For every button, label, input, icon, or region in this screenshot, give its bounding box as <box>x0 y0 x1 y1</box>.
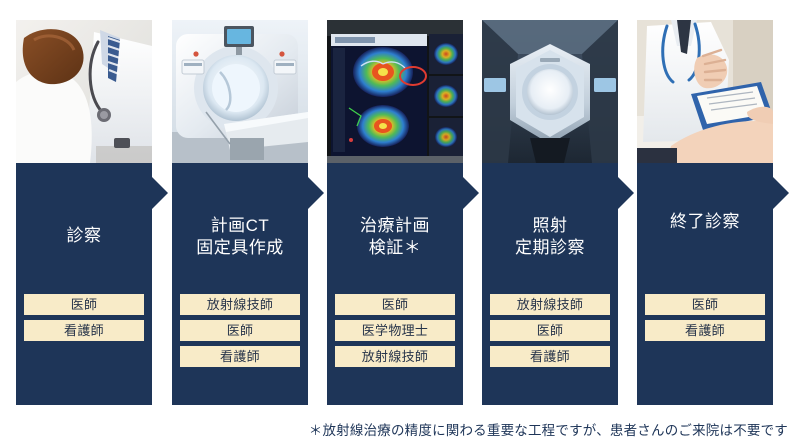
step-5-roles: 医師 看護師 <box>645 294 765 341</box>
role-badge: 医学物理士 <box>335 320 455 341</box>
step-3-title: 治療計画 検証＊ <box>327 215 463 260</box>
step-2-roles: 放射線技師 医師 看護師 <box>180 294 300 367</box>
flow-step-2: 計画CT 固定具作成 放射線技師 医師 看護師 <box>172 20 308 405</box>
step-4-roles: 放射線技師 医師 看護師 <box>490 294 610 367</box>
role-badge: 医師 <box>24 294 144 315</box>
role-badge: 放射線技師 <box>180 294 300 315</box>
role-badge: 放射線技師 <box>490 294 610 315</box>
step-3-photo <box>327 20 463 163</box>
role-badge: 医師 <box>180 320 300 341</box>
role-badge: 看護師 <box>24 320 144 341</box>
step-5-arrow-panel: 終了診察 医師 看護師 <box>637 163 789 405</box>
step-1-roles: 医師 看護師 <box>24 294 144 341</box>
step-4-arrow-panel: 照射 定期診察 放射線技師 医師 看護師 <box>482 163 634 405</box>
role-badge: 医師 <box>335 294 455 315</box>
flow-step-1: 診察 医師 看護師 <box>16 20 152 405</box>
treatment-flow-diagram: 診察 医師 看護師 <box>0 0 800 445</box>
step-3-arrow-panel: 治療計画 検証＊ 医師 医学物理士 放射線技師 <box>327 163 479 405</box>
step-4-photo <box>482 20 618 163</box>
footnote-text: ＊放射線治療の精度に関わる重要な工程ですが、患者さんのご来院は不要です <box>309 419 788 439</box>
role-badge: 看護師 <box>180 346 300 367</box>
flow-step-5: 終了診察 医師 看護師 <box>637 20 773 405</box>
role-badge: 看護師 <box>645 320 765 341</box>
role-badge: 医師 <box>645 294 765 315</box>
step-2-title: 計画CT 固定具作成 <box>172 215 308 260</box>
flow-step-4: 照射 定期診察 放射線技師 医師 看護師 <box>482 20 618 405</box>
step-1-photo <box>16 20 152 163</box>
step-2-arrow-panel: 計画CT 固定具作成 放射線技師 医師 看護師 <box>172 163 324 405</box>
step-2-photo <box>172 20 308 163</box>
step-1-title: 診察 <box>16 225 152 247</box>
step-3-roles: 医師 医学物理士 放射線技師 <box>335 294 455 367</box>
role-badge: 放射線技師 <box>335 346 455 367</box>
step-4-title: 照射 定期診察 <box>482 215 618 260</box>
step-5-photo <box>637 20 773 163</box>
role-badge: 看護師 <box>490 346 610 367</box>
role-badge: 医師 <box>490 320 610 341</box>
flow-step-3: 治療計画 検証＊ 医師 医学物理士 放射線技師 <box>327 20 463 405</box>
step-1-arrow-panel: 診察 医師 看護師 <box>16 163 168 405</box>
step-5-title: 終了診察 <box>637 211 773 233</box>
